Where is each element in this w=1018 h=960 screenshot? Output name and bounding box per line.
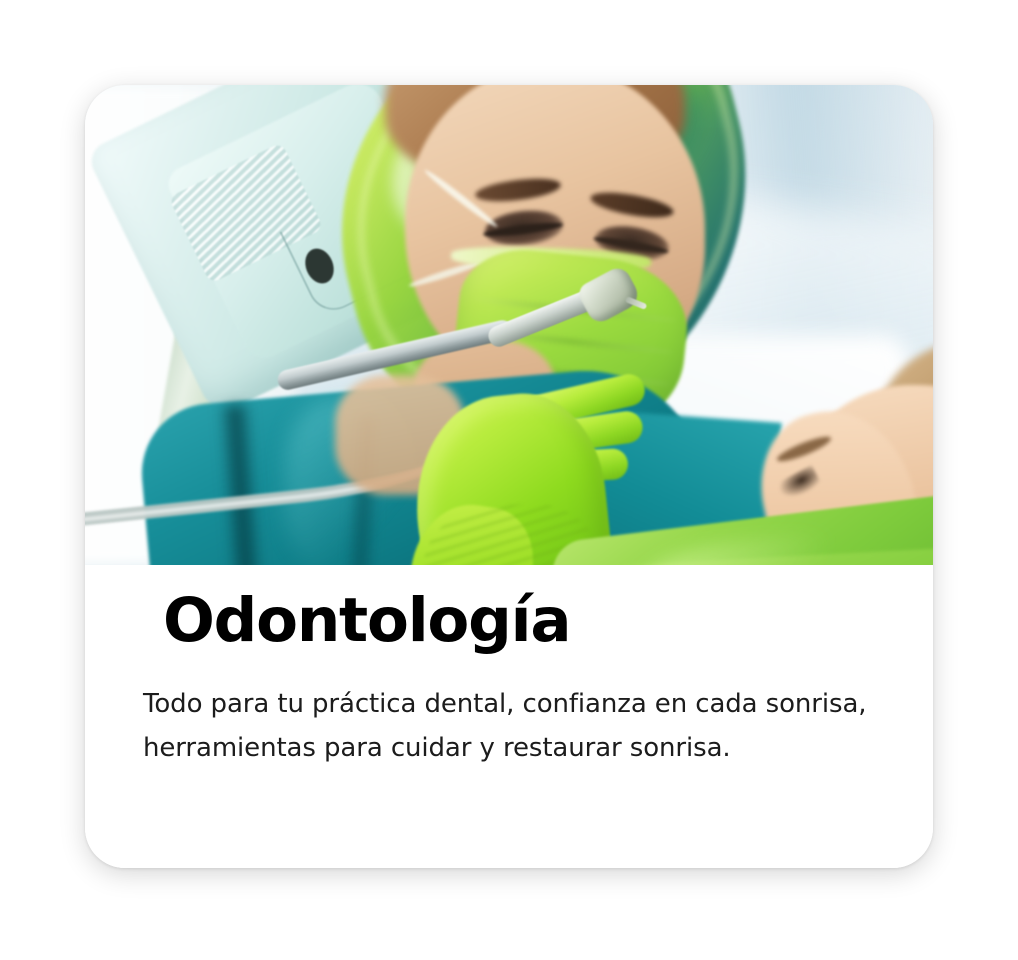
card-text-area: Odontología Todo para tu práctica dental… [85, 565, 933, 868]
card-image [85, 85, 933, 565]
card-title: Odontología [163, 589, 570, 653]
card-description: Todo para tu práctica dental, confianza … [143, 682, 873, 770]
page-root: Odontología Todo para tu práctica dental… [0, 0, 1018, 960]
service-card[interactable]: Odontología Todo para tu práctica dental… [85, 85, 933, 868]
